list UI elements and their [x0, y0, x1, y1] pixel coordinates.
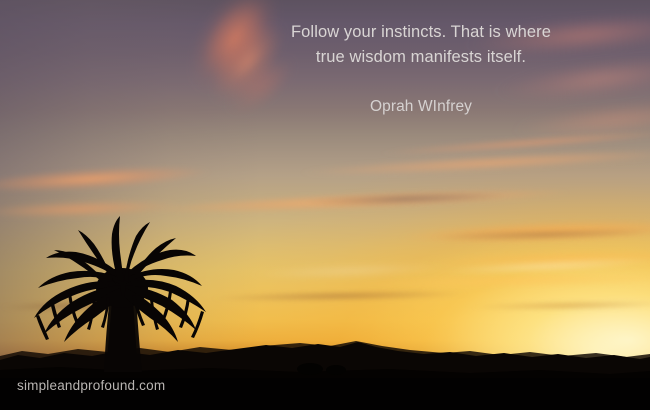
sunset-quote-poster: Follow your instincts. That is where tru…	[0, 0, 650, 410]
quote-author: Oprah WInfrey	[192, 96, 650, 118]
watermark-site-url: simpleandprofound.com	[17, 378, 165, 393]
quote-text: Follow your instincts. That is where tru…	[192, 20, 650, 70]
quote-block: Follow your instincts. That is where tru…	[0, 20, 650, 118]
